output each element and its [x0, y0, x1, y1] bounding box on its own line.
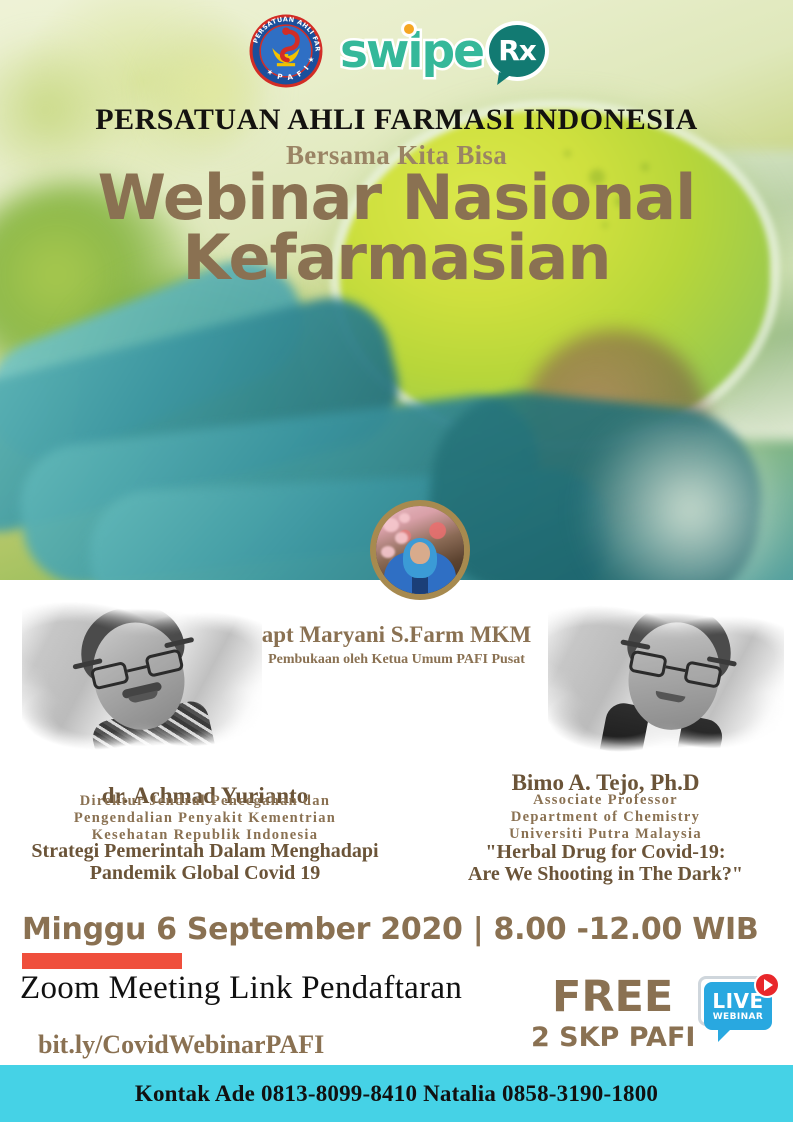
page-title: Webinar Nasional Kefarmasian: [0, 168, 793, 287]
skp-credits-label: 2 SKP PAFI: [531, 1022, 695, 1053]
play-button-icon: [754, 972, 780, 998]
main-title-line-2: Kefarmasian: [0, 228, 793, 288]
left-speaker-topic: Strategi Pemerintah Dalam Menghadapi Pan…: [0, 840, 410, 885]
left-speaker-affiliation: Direktur Jendral Pencegahan dan Pengenda…: [0, 793, 410, 844]
pafi-logo-icon: PERSATUAN AHLI FARMASI INDONESIA ★ P A F…: [248, 13, 324, 89]
registration-label: Zoom Meeting Link Pendaftaran: [20, 970, 462, 1007]
swiperx-dot-icon: [404, 24, 414, 34]
background-haze: [560, 420, 793, 580]
center-speaker-role: Pembukaan oleh Ketua Umum PAFI Pusat: [0, 652, 793, 668]
badge-webinar-label: WEBINAR: [713, 1013, 764, 1022]
right-speaker-affiliation: Associate Professor Department of Chemis…: [418, 792, 793, 843]
rx-label: Rx: [498, 37, 536, 65]
swiperx-logo: swipe Rx: [340, 25, 545, 77]
organization-name: PERSATUAN AHLI FARMASI INDONESIA: [0, 103, 793, 137]
badge-live-label: LIVE: [712, 991, 763, 1011]
center-speaker-avatar: [370, 500, 470, 600]
center-speaker-face: [410, 542, 430, 564]
logo-row: PERSATUAN AHLI FARMASI INDONESIA ★ P A F…: [0, 10, 793, 92]
registration-link[interactable]: bit.ly/CovidWebinarPAFI: [38, 1030, 324, 1060]
right-speaker-topic: "Herbal Drug for Covid-19: Are We Shooti…: [418, 841, 793, 886]
red-accent-bar: [22, 953, 182, 969]
contact-text: Kontak Ade 0813-8099-8410 Natalia 0858-3…: [135, 1081, 658, 1107]
right-speaker-portrait: [548, 592, 784, 762]
webinar-poster: PERSATUAN AHLI FARMASI INDONESIA ★ P A F…: [0, 0, 793, 1122]
event-datetime: Minggu 6 September 2020 | 8.00 -12.00 WI…: [22, 912, 758, 947]
live-webinar-badge-icon: LIVE WEBINAR: [694, 972, 780, 1050]
price-free-label: FREE: [552, 972, 673, 1022]
rx-speech-bubble-icon: Rx: [489, 25, 545, 77]
left-speaker-portrait: [22, 588, 262, 760]
center-speaker-name: apt Maryani S.Farm MKM: [0, 622, 793, 648]
contact-bar: Kontak Ade 0813-8099-8410 Natalia 0858-3…: [0, 1065, 793, 1122]
swiperx-wordmark: swipe: [340, 28, 483, 75]
